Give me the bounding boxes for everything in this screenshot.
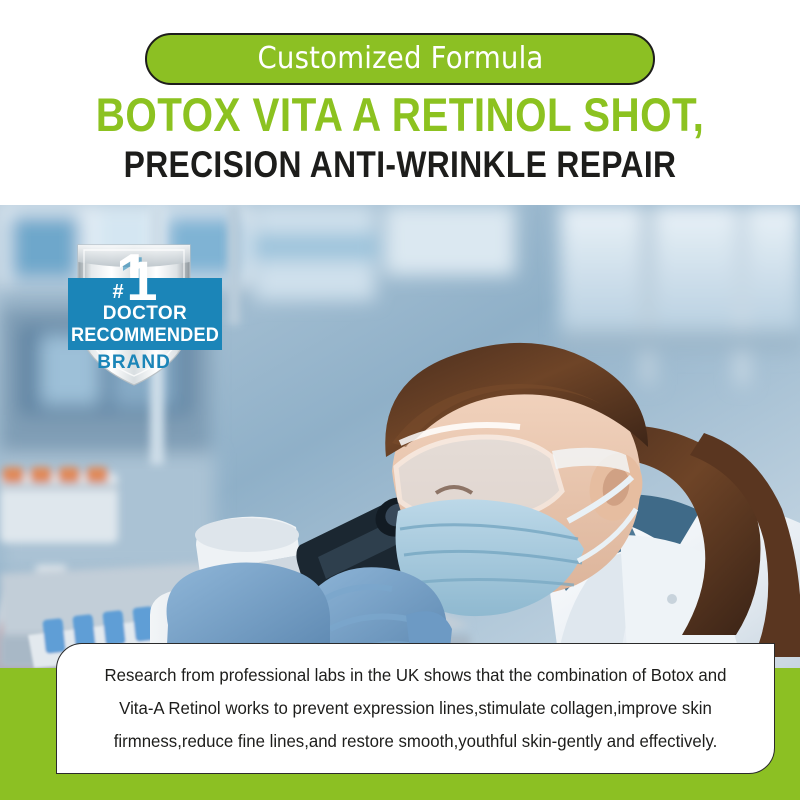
badge-line-brand: BRAND: [97, 352, 171, 373]
badge-line-recommended: RECOMMENDED: [71, 325, 219, 346]
badge-line-doctor: DOCTOR: [103, 303, 187, 324]
research-copy-text: Research from professional labs in the U…: [71, 659, 759, 758]
promo-poster: Customized Formula BOTOX VITA A RETINOL …: [0, 0, 800, 800]
research-copy-panel: Research from professional labs in the U…: [56, 643, 775, 774]
page-title-line1: BOTOX VITA A RETINOL SHOT,: [56, 91, 744, 138]
customized-formula-badge: Customized Formula: [145, 33, 655, 85]
customized-formula-label: Customized Formula: [257, 44, 543, 74]
page-title-line2: PRECISION ANTI-WRINKLE REPAIR: [56, 146, 744, 183]
doctor-recommended-badge: 1 1 # 1 DOCTOR RECOMMENDED BRAND: [60, 240, 230, 390]
poster-header: Customized Formula BOTOX VITA A RETINOL …: [0, 0, 800, 205]
badge-hash: #: [112, 281, 123, 303]
shield-icon: 1 1 # 1 DOCTOR RECOMMENDED BRAND: [60, 240, 230, 390]
